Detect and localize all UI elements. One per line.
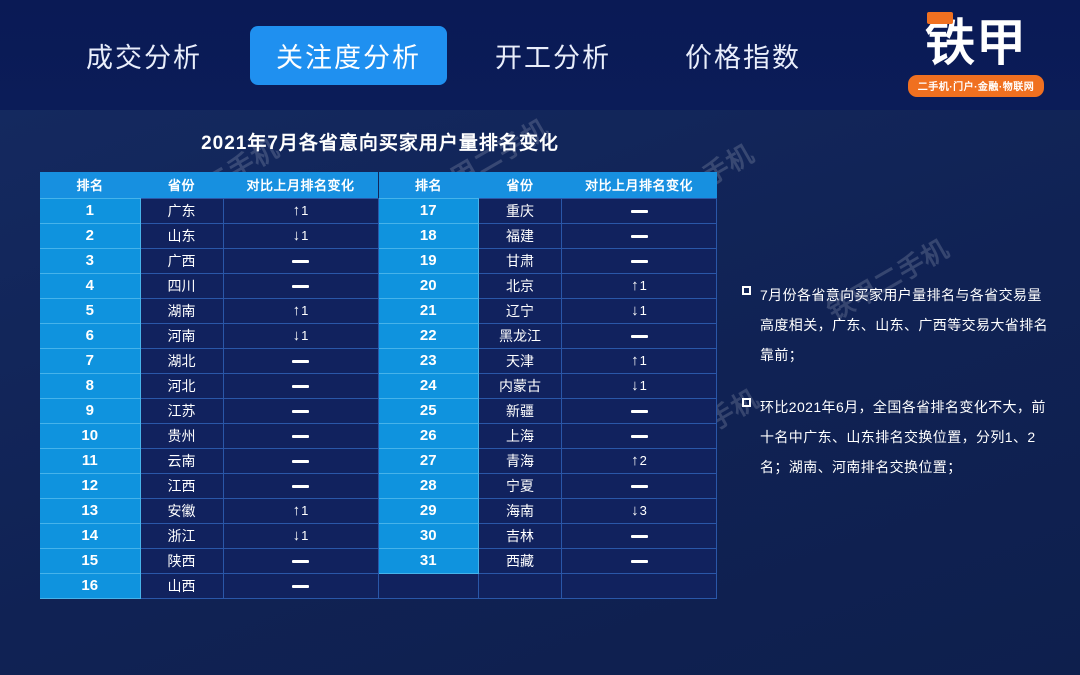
cell-province: 贵州 [140, 423, 223, 448]
change-value: 1 [301, 203, 308, 218]
cell-rank: 6 [40, 323, 140, 348]
table-row [379, 573, 717, 598]
cell-change [223, 248, 378, 273]
col-header-province: 省份 [479, 172, 562, 198]
cell-rank: 12 [40, 473, 140, 498]
cell-change [223, 573, 378, 598]
col-header-change: 对比上月排名变化 [562, 172, 717, 198]
cell-rank: 1 [40, 198, 140, 223]
cell-province: 河北 [140, 373, 223, 398]
cell-province: 浙江 [140, 523, 223, 548]
table-row: 18福建 [379, 223, 717, 248]
table-row: 16山西 [40, 573, 378, 598]
change-flat-icon [631, 435, 648, 438]
cell-rank: 3 [40, 248, 140, 273]
cell-rank: 18 [379, 223, 479, 248]
table-row: 17重庆 [379, 198, 717, 223]
cell-change: ↑1 [223, 298, 378, 323]
nav-tab-jiagezhishu[interactable]: 价格指数 [659, 26, 827, 85]
cell-change: ↑1 [223, 498, 378, 523]
cell-change [223, 423, 378, 448]
change-down-arrow-icon: ↓ [293, 327, 301, 344]
brand-logo: 铁甲 二手机·门户·金融·物联网 [896, 8, 1056, 106]
cell-rank: 25 [379, 398, 479, 423]
logo-accent-block [927, 12, 953, 24]
change-value: 2 [640, 453, 647, 468]
cell-rank: 22 [379, 323, 479, 348]
logo-subtitle: 二手机·门户·金融·物联网 [908, 75, 1045, 97]
slide-title: 2021年7月各省意向买家用户量排名变化 [0, 128, 760, 155]
change-flat-icon [631, 260, 648, 263]
change-flat-icon [292, 285, 309, 288]
change-flat-icon [631, 560, 648, 563]
cell-change [223, 548, 378, 573]
table-row: 27青海↑2 [379, 448, 717, 473]
cell-change: ↓1 [223, 223, 378, 248]
nav-tab-kaigong[interactable]: 开工分析 [469, 26, 637, 85]
cell-rank: 31 [379, 548, 479, 573]
table-row: 15陕西 [40, 548, 378, 573]
cell-province: 重庆 [479, 198, 562, 223]
cell-rank: 27 [379, 448, 479, 473]
table-row: 26上海 [379, 423, 717, 448]
cell-province: 宁夏 [479, 473, 562, 498]
cell-province: 天津 [479, 348, 562, 373]
cell-province: 湖北 [140, 348, 223, 373]
cell-change [562, 248, 717, 273]
table-row: 19甘肃 [379, 248, 717, 273]
cell-province: 广西 [140, 248, 223, 273]
cell-province: 吉林 [479, 523, 562, 548]
change-value: 3 [640, 503, 647, 518]
cell-province: 四川 [140, 273, 223, 298]
change-flat-icon [631, 535, 648, 538]
bullet-text: 环比2021年6月，全国各省排名变化不大，前十名中广东、山东排名交换位置，分列1… [760, 392, 1052, 482]
cell-rank: 10 [40, 423, 140, 448]
col-header-province: 省份 [140, 172, 223, 198]
cell-province: 北京 [479, 273, 562, 298]
cell-province: 广东 [140, 198, 223, 223]
cell-province: 云南 [140, 448, 223, 473]
cell-change: ↓1 [562, 373, 717, 398]
cell-change: ↑1 [223, 198, 378, 223]
cell-province: 黑龙江 [479, 323, 562, 348]
change-down-arrow-icon: ↓ [293, 227, 301, 244]
table-row: 25新疆 [379, 398, 717, 423]
ranking-table-right: 排名 省份 对比上月排名变化 17重庆18福建19甘肃20北京↑121辽宁↓12… [379, 172, 718, 599]
cell-rank: 7 [40, 348, 140, 373]
cell-rank: 21 [379, 298, 479, 323]
nav-tab-chengjiao[interactable]: 成交分析 [60, 26, 228, 85]
cell-province: 上海 [479, 423, 562, 448]
cell-change: ↑2 [562, 448, 717, 473]
table-row: 10贵州 [40, 423, 378, 448]
table-row: 31西藏 [379, 548, 717, 573]
ranking-tables: 排名 省份 对比上月排名变化 1广东↑12山东↓13广西4四川5湖南↑16河南↓… [40, 172, 716, 599]
table-row: 12江西 [40, 473, 378, 498]
cell-change [223, 373, 378, 398]
change-up-arrow-icon: ↑ [631, 352, 639, 369]
table-row: 11云南 [40, 448, 378, 473]
table-row: 20北京↑1 [379, 273, 717, 298]
cell-province: 甘肃 [479, 248, 562, 273]
change-up-arrow-icon: ↑ [293, 202, 301, 219]
cell-change [562, 473, 717, 498]
table-row: 24内蒙古↓1 [379, 373, 717, 398]
change-value: 1 [640, 353, 647, 368]
cell-change [562, 223, 717, 248]
cell-change: ↓1 [223, 323, 378, 348]
square-bullet-icon [742, 398, 751, 407]
change-flat-icon [292, 260, 309, 263]
cell-rank: 16 [40, 573, 140, 598]
change-flat-icon [631, 485, 648, 488]
change-flat-icon [292, 360, 309, 363]
cell-change [223, 398, 378, 423]
cell-province [479, 573, 562, 598]
cell-rank: 28 [379, 473, 479, 498]
cell-province: 安徽 [140, 498, 223, 523]
cell-province: 江苏 [140, 398, 223, 423]
cell-rank: 17 [379, 198, 479, 223]
change-value: 1 [301, 328, 308, 343]
cell-change [562, 548, 717, 573]
table-row: 1广东↑1 [40, 198, 378, 223]
cell-change [562, 398, 717, 423]
change-value: 1 [640, 278, 647, 293]
table-row: 3广西 [40, 248, 378, 273]
cell-change: ↓3 [562, 498, 717, 523]
cell-rank: 20 [379, 273, 479, 298]
table-body-right: 17重庆18福建19甘肃20北京↑121辽宁↓122黑龙江23天津↑124内蒙古… [379, 198, 717, 598]
cell-province: 河南 [140, 323, 223, 348]
table-row: 9江苏 [40, 398, 378, 423]
list-item: 环比2021年6月，全国各省排名变化不大，前十名中广东、山东排名交换位置，分列1… [742, 392, 1052, 482]
table-row: 14浙江↓1 [40, 523, 378, 548]
col-header-rank: 排名 [379, 172, 479, 198]
cell-rank: 30 [379, 523, 479, 548]
main-nav: 成交分析 关注度分析 开工分析 价格指数 [60, 0, 849, 110]
cell-change [223, 448, 378, 473]
cell-rank: 13 [40, 498, 140, 523]
table-row: 28宁夏 [379, 473, 717, 498]
table-row: 4四川 [40, 273, 378, 298]
cell-change [223, 348, 378, 373]
change-value: 1 [301, 528, 308, 543]
table-body-left: 1广东↑12山东↓13广西4四川5湖南↑16河南↓17湖北8河北9江苏10贵州1… [40, 198, 378, 598]
slide-body: 2021年7月各省意向买家用户量排名变化 铁甲二手机 铁甲二手机 铁甲二手机 铁… [0, 110, 1080, 675]
change-flat-icon [631, 335, 648, 338]
cell-province: 陕西 [140, 548, 223, 573]
change-up-arrow-icon: ↑ [293, 502, 301, 519]
insight-bullet-list: 7月份各省意向买家用户量排名与各省交易量高度相关，广东、山东、广西等交易大省排名… [742, 280, 1052, 504]
change-flat-icon [292, 485, 309, 488]
cell-rank: 29 [379, 498, 479, 523]
cell-change [223, 473, 378, 498]
change-down-arrow-icon: ↓ [631, 302, 639, 319]
table-row: 8河北 [40, 373, 378, 398]
logo-wordmark: 铁甲 [925, 18, 1027, 68]
nav-tab-guanzhudu[interactable]: 关注度分析 [250, 26, 447, 85]
table-row: 7湖北 [40, 348, 378, 373]
cell-rank: 11 [40, 448, 140, 473]
change-up-arrow-icon: ↑ [631, 452, 639, 469]
change-value: 1 [301, 503, 308, 518]
change-flat-icon [292, 560, 309, 563]
col-header-rank: 排名 [40, 172, 140, 198]
cell-rank: 23 [379, 348, 479, 373]
change-down-arrow-icon: ↓ [631, 377, 639, 394]
change-flat-icon [292, 460, 309, 463]
cell-province: 山东 [140, 223, 223, 248]
cell-rank: 14 [40, 523, 140, 548]
cell-change [223, 273, 378, 298]
change-value: 1 [301, 303, 308, 318]
cell-province: 辽宁 [479, 298, 562, 323]
bullet-text: 7月份各省意向买家用户量排名与各省交易量高度相关，广东、山东、广西等交易大省排名… [760, 280, 1052, 370]
cell-province: 西藏 [479, 548, 562, 573]
ranking-table-left: 排名 省份 对比上月排名变化 1广东↑12山东↓13广西4四川5湖南↑16河南↓… [40, 172, 379, 599]
table-row: 30吉林 [379, 523, 717, 548]
cell-change: ↓1 [562, 298, 717, 323]
change-value: 1 [301, 228, 308, 243]
change-flat-icon [631, 235, 648, 238]
change-down-arrow-icon: ↓ [631, 502, 639, 519]
cell-rank: 8 [40, 373, 140, 398]
cell-rank: 4 [40, 273, 140, 298]
cell-change: ↑1 [562, 273, 717, 298]
cell-province: 海南 [479, 498, 562, 523]
top-header-bar: 成交分析 关注度分析 开工分析 价格指数 铁甲 二手机·门户·金融·物联网 [0, 0, 1080, 110]
cell-province: 湖南 [140, 298, 223, 323]
cell-change: ↓1 [223, 523, 378, 548]
table-row: 23天津↑1 [379, 348, 717, 373]
cell-change [562, 573, 717, 598]
cell-province: 青海 [479, 448, 562, 473]
change-flat-icon [292, 385, 309, 388]
cell-change [562, 423, 717, 448]
change-value: 1 [640, 303, 647, 318]
table-header-row: 排名 省份 对比上月排名变化 [379, 172, 717, 198]
cell-change: ↑1 [562, 348, 717, 373]
table-row: 22黑龙江 [379, 323, 717, 348]
cell-rank: 19 [379, 248, 479, 273]
cell-province: 福建 [479, 223, 562, 248]
change-flat-icon [292, 410, 309, 413]
table-row: 6河南↓1 [40, 323, 378, 348]
change-flat-icon [292, 435, 309, 438]
cell-rank: 9 [40, 398, 140, 423]
cell-province: 新疆 [479, 398, 562, 423]
change-flat-icon [631, 210, 648, 213]
cell-change [562, 523, 717, 548]
cell-rank: 5 [40, 298, 140, 323]
cell-province: 山西 [140, 573, 223, 598]
square-bullet-icon [742, 286, 751, 295]
cell-rank: 15 [40, 548, 140, 573]
cell-change [562, 323, 717, 348]
change-down-arrow-icon: ↓ [293, 527, 301, 544]
col-header-change: 对比上月排名变化 [223, 172, 378, 198]
change-value: 1 [640, 378, 647, 393]
table-row: 2山东↓1 [40, 223, 378, 248]
list-item: 7月份各省意向买家用户量排名与各省交易量高度相关，广东、山东、广西等交易大省排名… [742, 280, 1052, 370]
table-row: 13安徽↑1 [40, 498, 378, 523]
cell-rank: 26 [379, 423, 479, 448]
table-row: 5湖南↑1 [40, 298, 378, 323]
change-flat-icon [292, 585, 309, 588]
cell-rank: 2 [40, 223, 140, 248]
table-header-row: 排名 省份 对比上月排名变化 [40, 172, 378, 198]
table-row: 29海南↓3 [379, 498, 717, 523]
change-flat-icon [631, 410, 648, 413]
change-up-arrow-icon: ↑ [631, 277, 639, 294]
cell-province: 内蒙古 [479, 373, 562, 398]
change-up-arrow-icon: ↑ [293, 302, 301, 319]
cell-change [562, 198, 717, 223]
cell-province: 江西 [140, 473, 223, 498]
cell-rank: 24 [379, 373, 479, 398]
table-row: 21辽宁↓1 [379, 298, 717, 323]
cell-rank [379, 573, 479, 598]
